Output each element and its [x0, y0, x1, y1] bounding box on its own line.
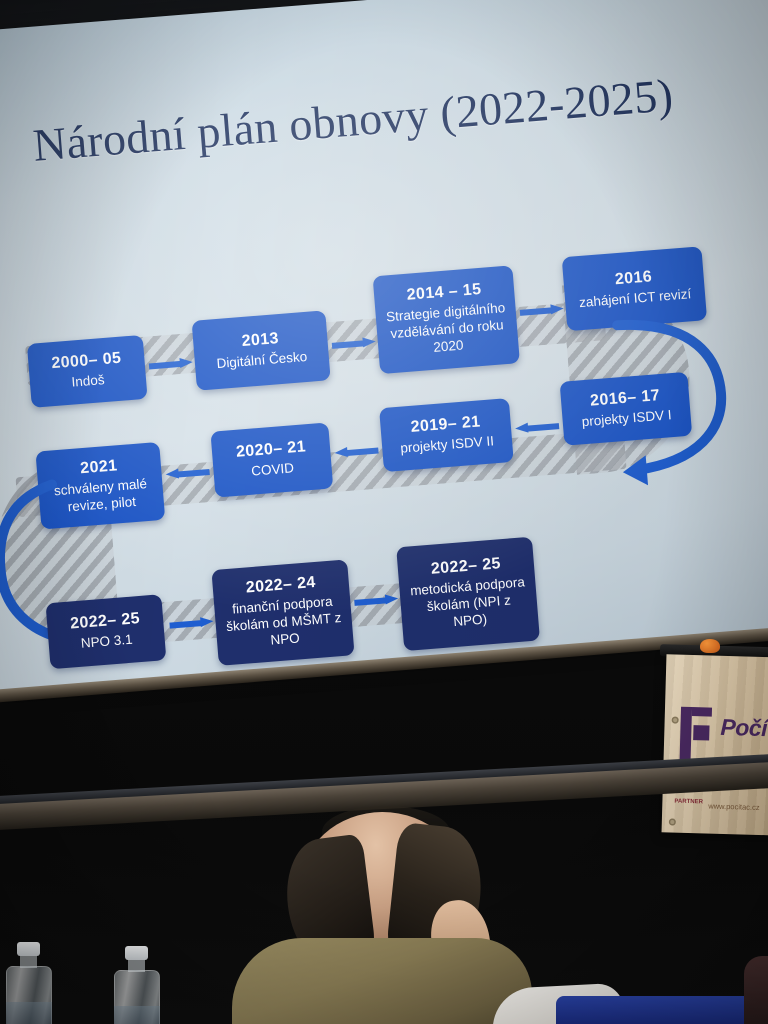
- far-audience-member: [744, 956, 768, 1024]
- node-heading: 2019– 21: [410, 414, 481, 437]
- node-heading: 2013: [241, 330, 280, 351]
- slide-title: Národní plán obnovy (2022-2025): [31, 68, 675, 172]
- arrow-r2-3: [515, 420, 560, 434]
- node-2014-15[interactable]: 2014 – 15 Strategie digitálního vzdělává…: [373, 265, 520, 374]
- projection-screen: Národní plán obnovy (2022-2025) 2000– 05…: [0, 0, 768, 692]
- audience-member-shoulders: [232, 938, 532, 1024]
- node-2019-21[interactable]: 2019– 21 projekty ISDV II: [379, 398, 514, 472]
- banner-word: Počítač: [720, 714, 768, 743]
- node-2022-25-npo31[interactable]: 2022– 25 NPO 3.1: [46, 594, 167, 669]
- node-body: finanční podpora školám od MŠMT z NPO: [222, 593, 346, 653]
- blue-seat: [556, 996, 768, 1024]
- banner-tag: PARTNER: [674, 799, 703, 806]
- node-body: projekty ISDV II: [400, 433, 495, 457]
- node-2013[interactable]: 2013 Digitální Česko: [192, 310, 331, 390]
- presentation-slide: Národní plán obnovy (2022-2025) 2000– 05…: [0, 0, 768, 692]
- grommet: [669, 818, 676, 825]
- node-heading: 2016– 17: [590, 387, 661, 410]
- sponsor-banner: Počítač Digitální technologie www.pocita…: [662, 654, 768, 835]
- node-heading: 2022– 25: [70, 610, 141, 633]
- node-body: COVID: [251, 460, 295, 480]
- node-heading: 2022– 25: [430, 556, 501, 579]
- conference-photo: Národní plán obnovy (2022-2025) 2000– 05…: [0, 0, 768, 1024]
- node-heading: 2014 – 15: [406, 281, 482, 305]
- banner-url: www.pocitac.cz: [708, 802, 760, 812]
- node-body: NPO 3.1: [80, 632, 133, 653]
- node-2000-05[interactable]: 2000– 05 Indoš: [27, 335, 148, 408]
- node-2022-24[interactable]: 2022– 24 finanční podpora školám od MŠMT…: [211, 559, 354, 665]
- node-body: projekty ISDV I: [581, 407, 672, 431]
- node-body: Indoš: [71, 372, 105, 391]
- node-2016-17[interactable]: 2016– 17 projekty ISDV I: [560, 372, 693, 446]
- node-heading: 2020– 21: [235, 438, 306, 461]
- node-body: Strategie digitálního vzdělávání do roku…: [383, 300, 511, 360]
- node-heading: 2016: [614, 268, 653, 289]
- banner-knob: [700, 639, 720, 653]
- node-body: Digitální Česko: [216, 349, 308, 373]
- node-2022-25-metodicka[interactable]: 2022– 25 metodická podpora školám (NPI z…: [396, 537, 540, 651]
- node-2020-21[interactable]: 2020– 21 COVID: [210, 422, 333, 497]
- node-heading: 2022– 24: [245, 574, 316, 597]
- node-body: metodická podpora školám (NPI z NPO): [407, 575, 531, 635]
- node-heading: 2000– 05: [51, 350, 122, 373]
